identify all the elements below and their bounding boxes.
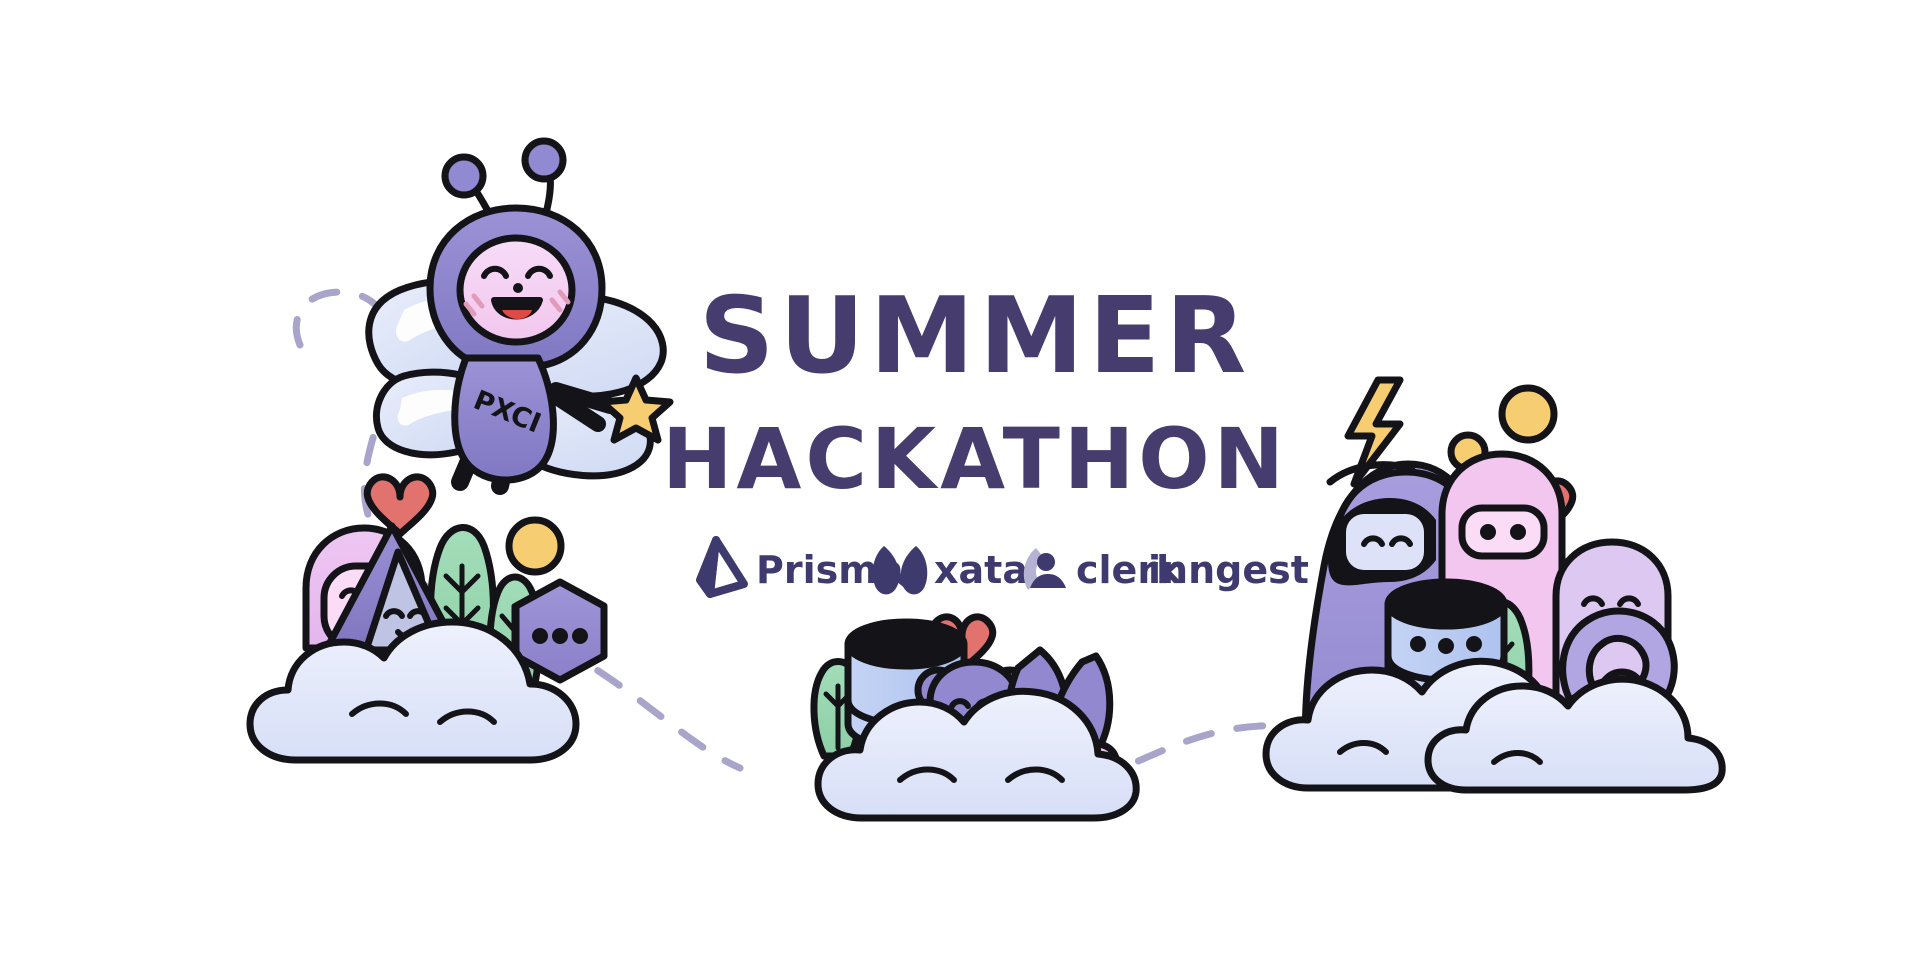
mascot-body: PXCI	[455, 358, 554, 480]
summer-hackathon-banner: PXCI SUMMER HACKATHON Prisma	[0, 0, 1920, 960]
yellow-circle	[509, 520, 561, 572]
banner-illustration: PXCI SUMMER HACKATHON Prisma	[0, 0, 1920, 960]
sponsor-inngest-label: inngest	[1148, 548, 1309, 592]
headline-block: SUMMER HACKATHON	[662, 275, 1288, 508]
sponsor-logo-row: Prisma xata clerk	[700, 540, 1309, 594]
hexagon-dot	[532, 628, 548, 644]
sponsor-xata-label: xata	[934, 548, 1028, 592]
headline-line-2: HACKATHON	[662, 410, 1288, 508]
hexagon-dot	[552, 628, 568, 644]
headline-line-1: SUMMER	[699, 275, 1251, 397]
hexagon-dot	[572, 628, 588, 644]
sponsor-inngest[interactable]: inngest	[1148, 548, 1309, 592]
xata-hexagon-character	[516, 582, 604, 680]
yellow-circle-large	[1502, 388, 1554, 440]
